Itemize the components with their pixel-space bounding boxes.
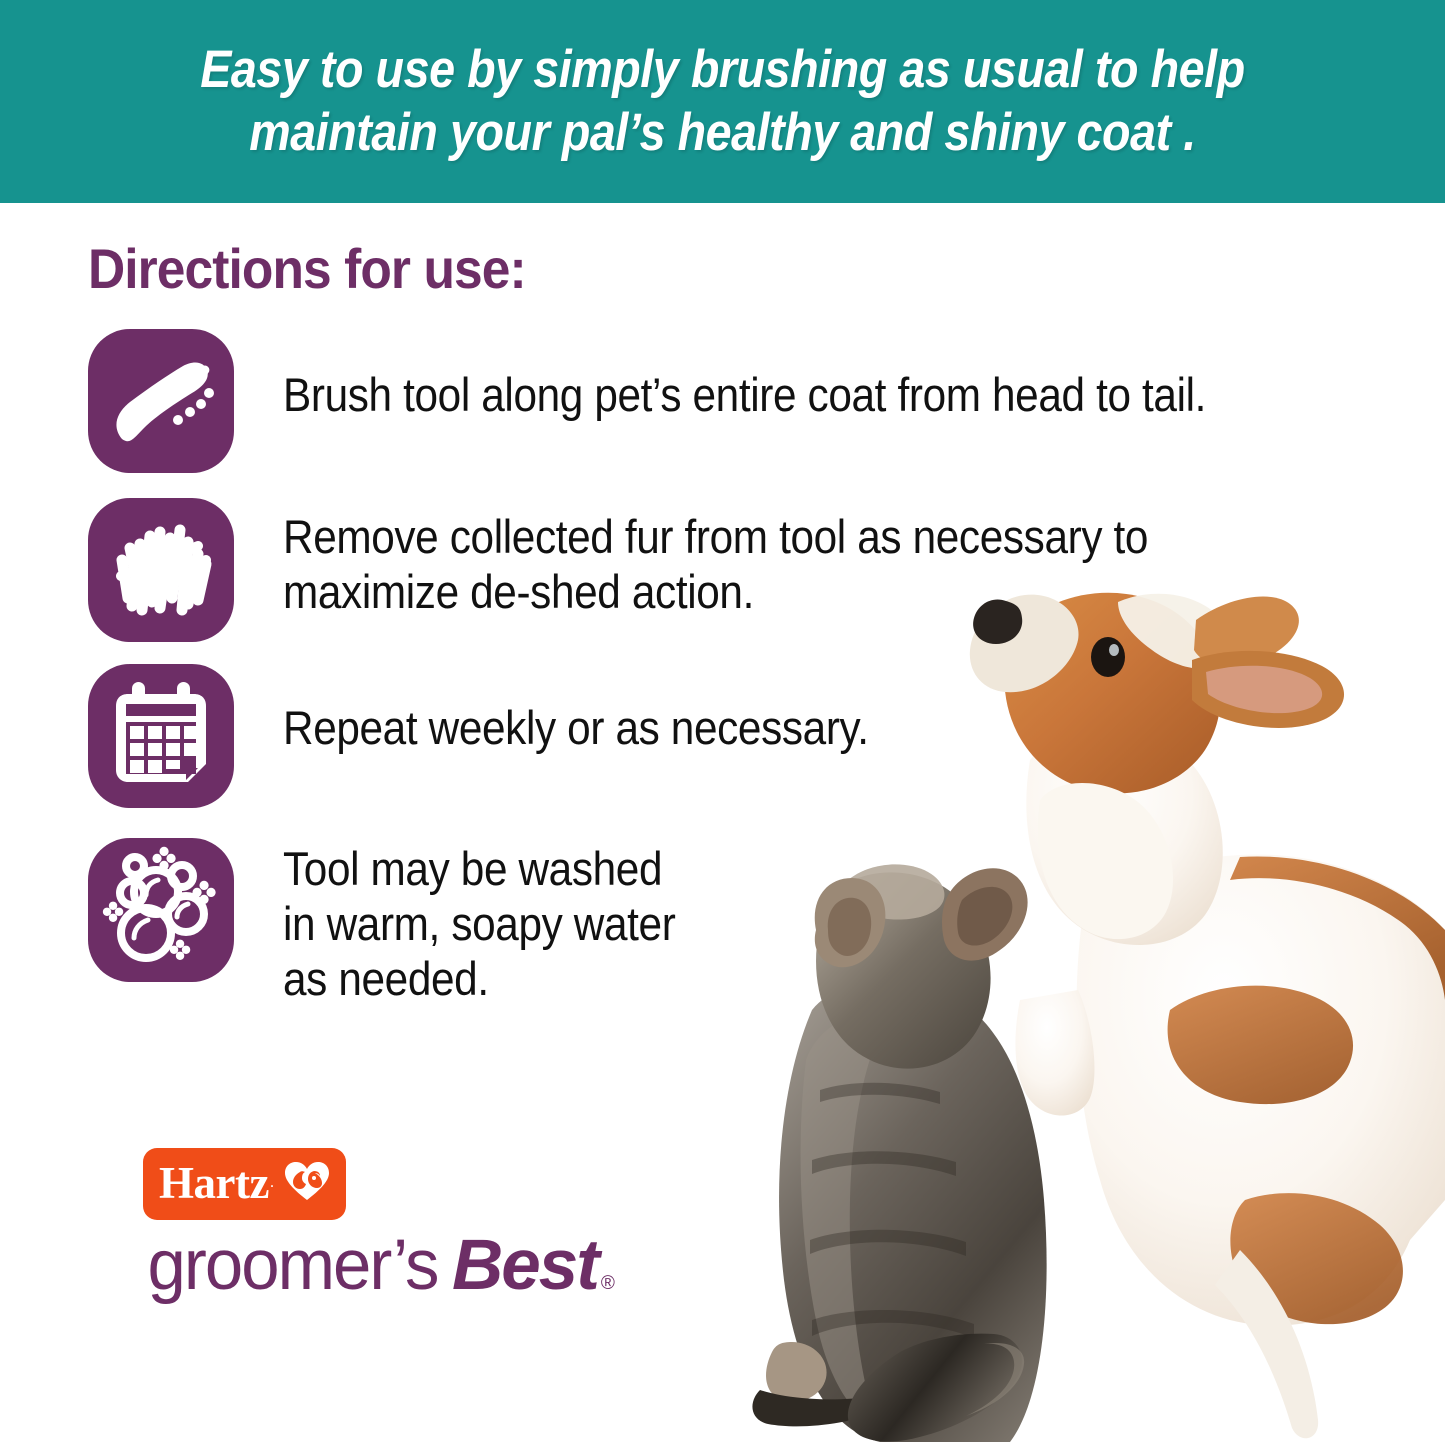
header-banner: Easy to use by simply brushing as usual … (0, 0, 1445, 203)
fur-strands-icon (88, 498, 234, 642)
step-1: Brush tool along pet’s entire coat from … (88, 329, 1309, 473)
groomers-best-wordmark: groomer’sBest® (143, 1225, 615, 1306)
cat-photo (752, 864, 1046, 1442)
dog-photo (970, 593, 1445, 1439)
hartz-trademark: . (270, 1174, 274, 1192)
brand-logo: Hartz. groomer’sBest® (143, 1148, 615, 1306)
hartz-badge: Hartz. (143, 1148, 346, 1220)
step-4-text: Tool may be washed in warm, soapy water … (283, 838, 675, 1007)
page-title: Directions for use: (88, 236, 526, 301)
step-3-text: Repeat weekly or as necessary. (283, 664, 869, 756)
step-2: Remove collected fur from tool as necess… (88, 498, 1244, 642)
hartz-wordmark: Hartz (159, 1157, 269, 1209)
best-word: Best (452, 1225, 598, 1306)
step-1-text: Brush tool along pet’s entire coat from … (283, 329, 1206, 423)
step-3: Repeat weekly or as necessary. (88, 664, 934, 808)
pet-heart-icon (284, 1161, 330, 1206)
calendar-icon (88, 664, 234, 808)
step-4: Tool may be washed in warm, soapy water … (88, 838, 719, 1007)
step-2-text: Remove collected fur from tool as necess… (283, 498, 1148, 620)
banner-headline: Easy to use by simply brushing as usual … (200, 39, 1245, 164)
brush-icon (88, 329, 234, 473)
registered-mark: ® (601, 1273, 615, 1295)
bubbles-icon (88, 838, 234, 982)
groomers-word: groomer’s (147, 1225, 437, 1306)
